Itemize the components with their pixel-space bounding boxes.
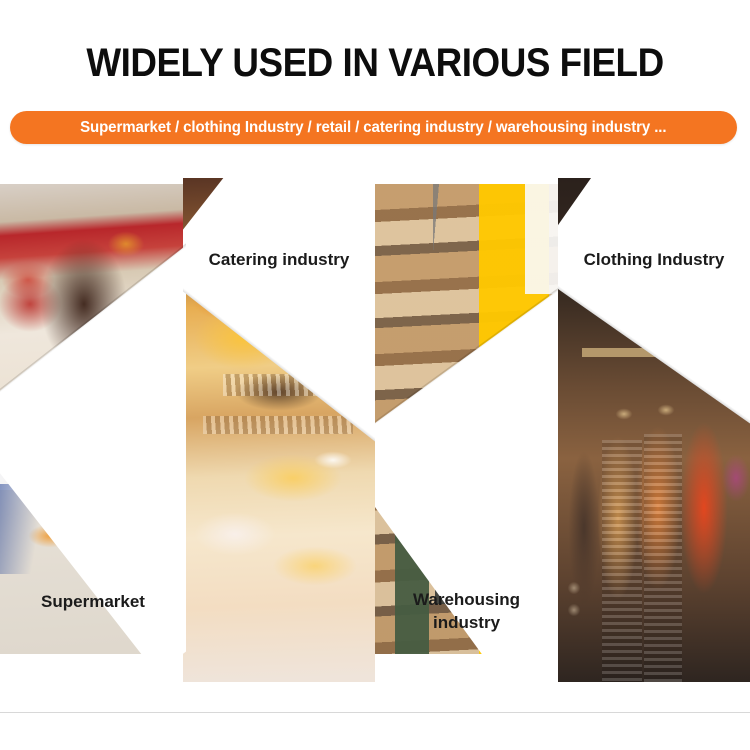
panel-label-warehouse: Warehousing industry	[375, 588, 558, 634]
collage-panel-warehouse	[375, 184, 558, 654]
footer-divider	[0, 712, 750, 713]
panel-label-clothing: Clothing Industry	[558, 248, 750, 271]
collage-panel-supermarket	[0, 184, 186, 654]
panel-label-supermarket: Supermarket	[0, 590, 186, 613]
industry-collage: Supermarket Catering industry Warehousin…	[0, 168, 750, 688]
page-title: WIDELY USED IN VARIOUS FIELD	[30, 40, 720, 86]
industries-banner-pill: Supermarket / clothing Industry / retail…	[10, 111, 737, 144]
industries-banner-text: Supermarket / clothing Industry / retail…	[80, 119, 666, 137]
panel-label-catering: Catering industry	[183, 248, 375, 271]
